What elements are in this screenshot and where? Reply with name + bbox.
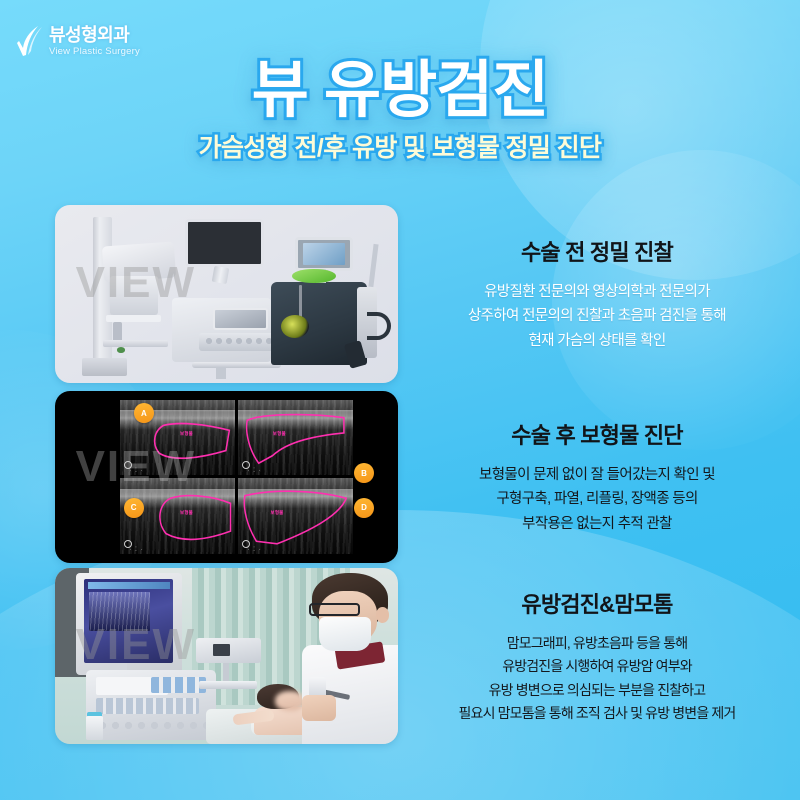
equipment-photo: VIEW — [55, 205, 398, 383]
ultrasound-scan-photo: 보형물 · ⁚ · 보형물 · ⁚ · — [55, 391, 398, 563]
scan-ticks-2: · ⁚ · — [247, 467, 261, 474]
section-row-1: VIEW 수술 전 정밀 진찰 유방질환 전문의와 영상의학과 전문의가 상주하… — [55, 205, 786, 383]
title-block: 뷰 유방검진 가슴성형 전/후 유방 및 보형물 정밀 진단 — [0, 58, 800, 163]
section-3-line-2: 유방검진을 시행하여 유방암 여부와 — [412, 655, 782, 678]
section-2-line-3: 부작용은 없는지 추적 관찰 — [412, 512, 782, 536]
section-1-line-2: 상주하여 전문의의 진찰과 초음파 검진을 통해 — [412, 304, 782, 328]
section-2-copy: 수술 후 보형물 진단 보형물이 문제 없이 잘 들어갔는지 확인 및 구형구축… — [398, 418, 786, 535]
ultrasound-shelf — [192, 362, 281, 368]
section-2-heading: 수술 후 보형물 진단 — [412, 418, 782, 450]
section-3-line-1: 맘모그래피, 유방초음파 등을 통해 — [412, 632, 782, 655]
doctor-ear — [376, 607, 390, 623]
doctor-hand — [302, 695, 336, 721]
doctor-face-mask — [319, 617, 370, 650]
brand-name-ko: 뷰성형외과 — [49, 26, 140, 44]
ultrasound-console-keys — [96, 698, 199, 714]
scan-label-4: 보형물 — [271, 510, 284, 516]
brand-logo-text: 뷰성형외과 View Plastic Surgery — [49, 26, 140, 57]
mammography-compression-plate — [106, 315, 161, 321]
scan-ticks-1: · ⁚ · — [129, 467, 143, 474]
gel-bottle — [86, 716, 103, 741]
ultrasound-leg — [216, 367, 226, 379]
brand-name-en: View Plastic Surgery — [49, 47, 140, 57]
scan-badge-4: D — [354, 498, 374, 518]
section-row-3: VIEW 유방검진&맘모톰 맘모그래피, 유방초음파 등을 통해 유방검진을 시… — [55, 568, 786, 744]
implant-outline-icon — [238, 478, 353, 554]
ultrasound-keyboard — [199, 333, 278, 351]
ultrasound-monitor-screen — [84, 579, 173, 663]
section-3-copy: 유방검진&맘모톰 맘모그래피, 유방초음파 등을 통해 유방검진을 시행하여 유… — [398, 587, 786, 725]
scan-label-3: 보형물 — [180, 510, 193, 516]
section-1-heading: 수술 전 정밀 진찰 — [412, 235, 782, 267]
mammography-arm — [110, 276, 158, 315]
scan-badge-1: A — [134, 403, 154, 423]
ultrasound-console-buttons — [151, 677, 206, 693]
page-title: 뷰 유방검진 — [0, 58, 800, 123]
section-row-2: 보형물 · ⁚ · 보형물 · ⁚ · — [55, 391, 786, 563]
scan-panel-2: 보형물 · ⁚ · — [238, 400, 353, 476]
mammography-grip — [113, 322, 122, 342]
mammography-tray — [103, 340, 168, 347]
doctor-glasses-icon — [309, 603, 360, 615]
page-subtitle: 가슴성형 전/후 유방 및 보형물 정밀 진단 — [0, 135, 800, 163]
mammography-column — [93, 217, 112, 370]
equipment-cart-tray — [199, 681, 257, 690]
ultrasound-monitor-arm — [211, 266, 229, 284]
leaf-mark-icon — [16, 24, 44, 58]
section-3-heading: 유방검진&맘모톰 — [412, 587, 782, 619]
section-1-copy: 수술 전 정밀 진찰 유방질환 전문의와 영상의학과 전문의가 상주하여 전문의… — [398, 235, 786, 352]
poster-canvas: 뷰성형외과 View Plastic Surgery 뷰 유방검진 가슴성형 전… — [0, 0, 800, 800]
section-1-line-3: 현재 가슴의 상태를 확인 — [412, 329, 782, 353]
ultrasound-touch-panel — [213, 308, 268, 329]
scan-panel-4: 보형물 · ⁚ · — [238, 478, 353, 554]
patient-face-blurred — [275, 691, 306, 710]
section-3-line-3: 유방 병변으로 의심되는 부분을 진찰하고 — [412, 679, 782, 702]
mammography-base — [82, 358, 127, 376]
scan-label-1: 보형물 — [180, 431, 193, 437]
equipment-cart-screen — [213, 644, 230, 656]
section-2-line-2: 구형구축, 파열, 리플링, 장액종 등의 — [412, 487, 782, 511]
scan-panel-grid: 보형물 · ⁚ · 보형물 · ⁚ · — [120, 400, 353, 555]
implant-outline-icon — [238, 400, 353, 476]
section-3-line-4: 필요시 맘모톰을 통해 조직 검사 및 유방 병변을 제거 — [412, 702, 782, 725]
exam-room-photo: VIEW — [55, 568, 398, 744]
scan-ticks-3: · ⁚ · — [129, 546, 143, 553]
laser-device-screen — [295, 237, 353, 271]
ultrasound-console-knobs — [96, 719, 206, 733]
scan-badge-3: C — [124, 498, 144, 518]
brand-logo[interactable]: 뷰성형외과 View Plastic Surgery — [16, 24, 140, 58]
scan-ticks-4: · ⁚ · — [247, 546, 261, 553]
scan-label-2: 보형물 — [273, 431, 286, 437]
mammography-indicator — [117, 347, 125, 352]
section-1-line-1: 유방질환 전문의와 영상의학과 전문의가 — [412, 280, 782, 304]
section-2-line-1: 보형물이 문제 없이 잘 들어갔는지 확인 및 — [412, 463, 782, 487]
ultrasound-monitor — [185, 219, 264, 267]
